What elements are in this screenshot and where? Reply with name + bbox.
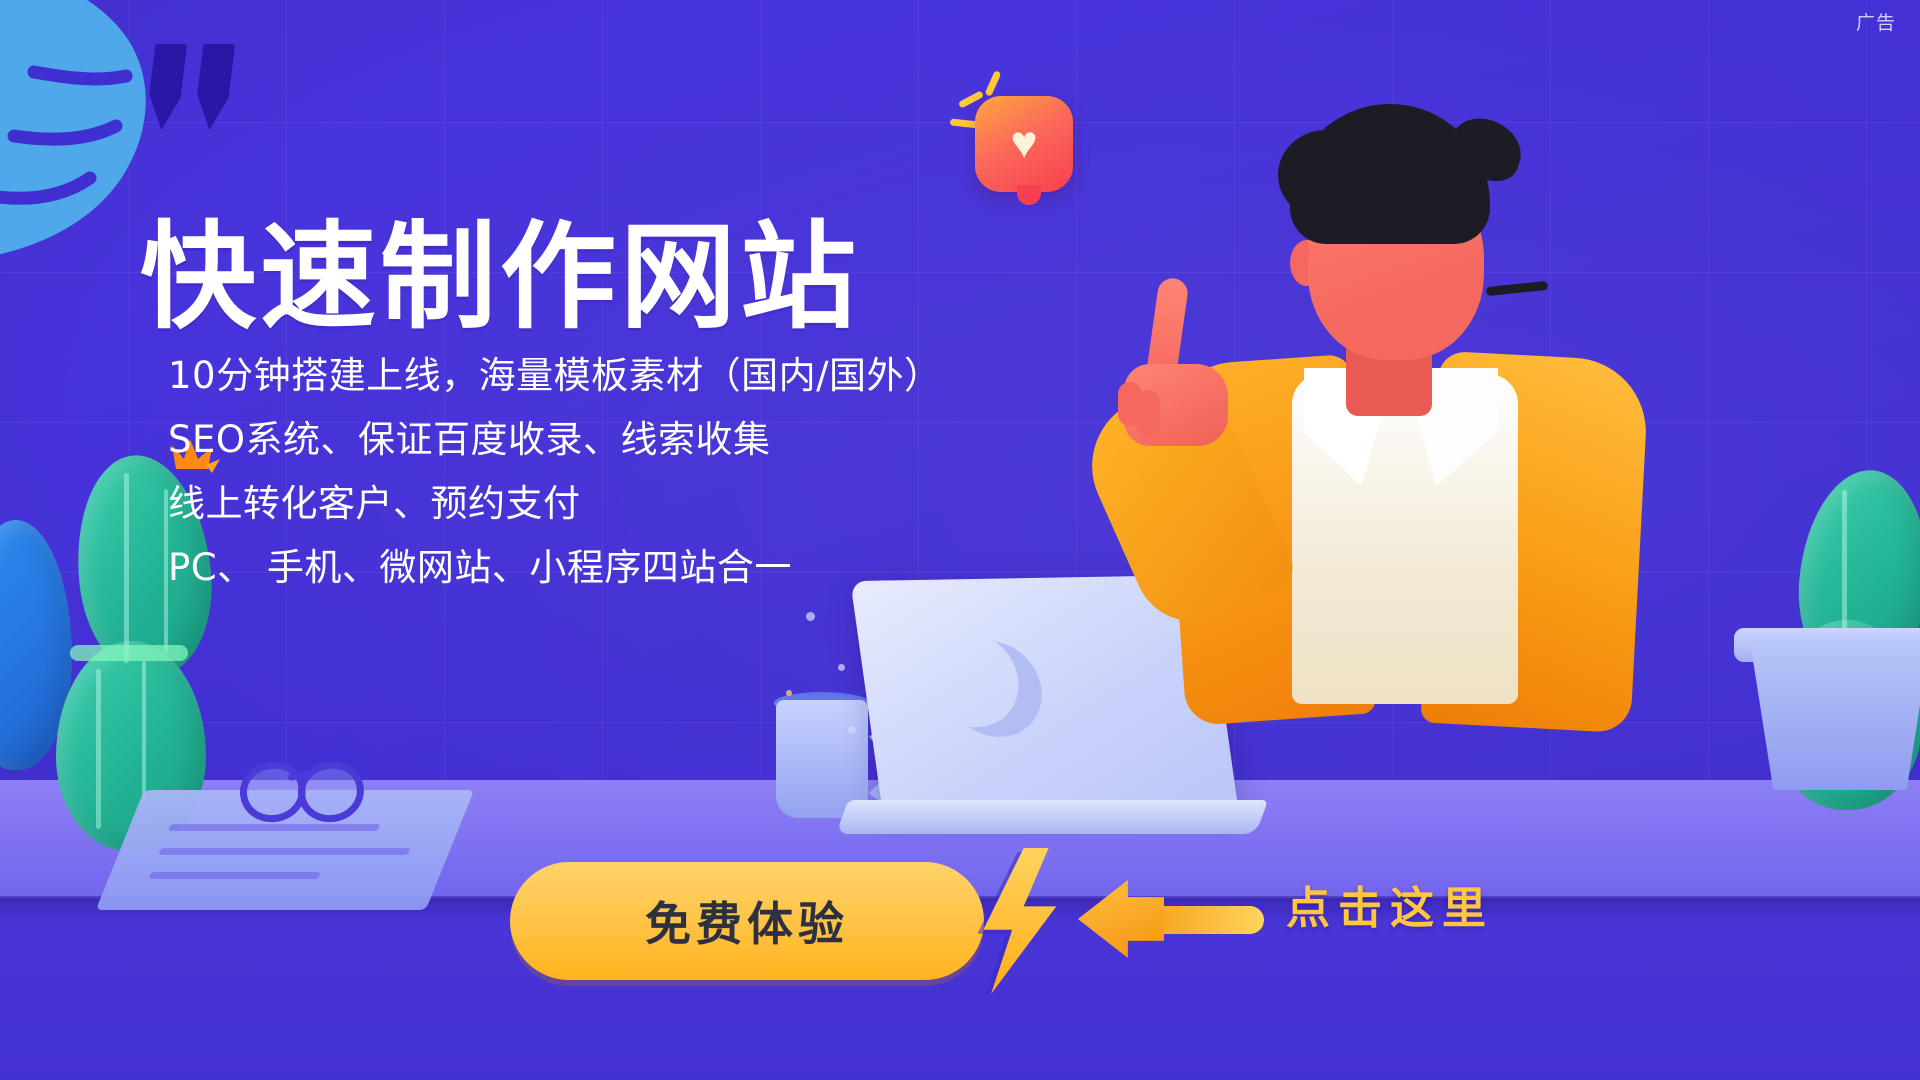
sparkle-dot bbox=[838, 664, 845, 671]
feature-list: 10分钟搭建上线，海量模板素材（国内/国外） SEO系统、保证百度收录、线索收集… bbox=[168, 344, 998, 600]
list-item: 10分钟搭建上线，海量模板素材（国内/国外） bbox=[168, 344, 998, 408]
list-item: SEO系统、保证百度收录、线索收集 bbox=[168, 408, 998, 472]
free-trial-button-label: 免费体验 bbox=[645, 888, 849, 954]
heart-icon: ♥ bbox=[1001, 122, 1047, 166]
eyeglasses-icon bbox=[240, 760, 370, 820]
list-item: 线上转化客户、预约支付 bbox=[168, 472, 998, 536]
ad-banner: ♥ 广告 快速制作网站 10分钟搭建上线，海量模板素材（国内/国外） SEO系统… bbox=[0, 0, 1920, 1080]
like-bubble-icon: ♥ bbox=[975, 96, 1073, 192]
list-item: PC、 手机、微网站、小程序四站合一 bbox=[168, 536, 998, 600]
free-trial-button[interactable]: 免费体验 bbox=[510, 862, 984, 980]
click-here-hint: 点击这里 bbox=[1286, 872, 1494, 936]
moon-icon bbox=[915, 630, 1024, 728]
sparkle-dot bbox=[786, 690, 792, 696]
eyebrow bbox=[1486, 281, 1549, 296]
sparkle-dot bbox=[848, 726, 856, 734]
hair-fringe bbox=[1278, 130, 1374, 220]
laptop-base bbox=[836, 800, 1268, 834]
character-illustration bbox=[1150, 90, 1710, 790]
ad-label: 广告 bbox=[1856, 8, 1896, 35]
pointing-hand-icon bbox=[1118, 286, 1238, 436]
arrow-left-icon bbox=[1078, 880, 1258, 958]
sparkle-dot bbox=[806, 612, 815, 621]
page-title: 快速制作网站 bbox=[140, 220, 860, 336]
quote-mark-icon bbox=[150, 44, 235, 134]
